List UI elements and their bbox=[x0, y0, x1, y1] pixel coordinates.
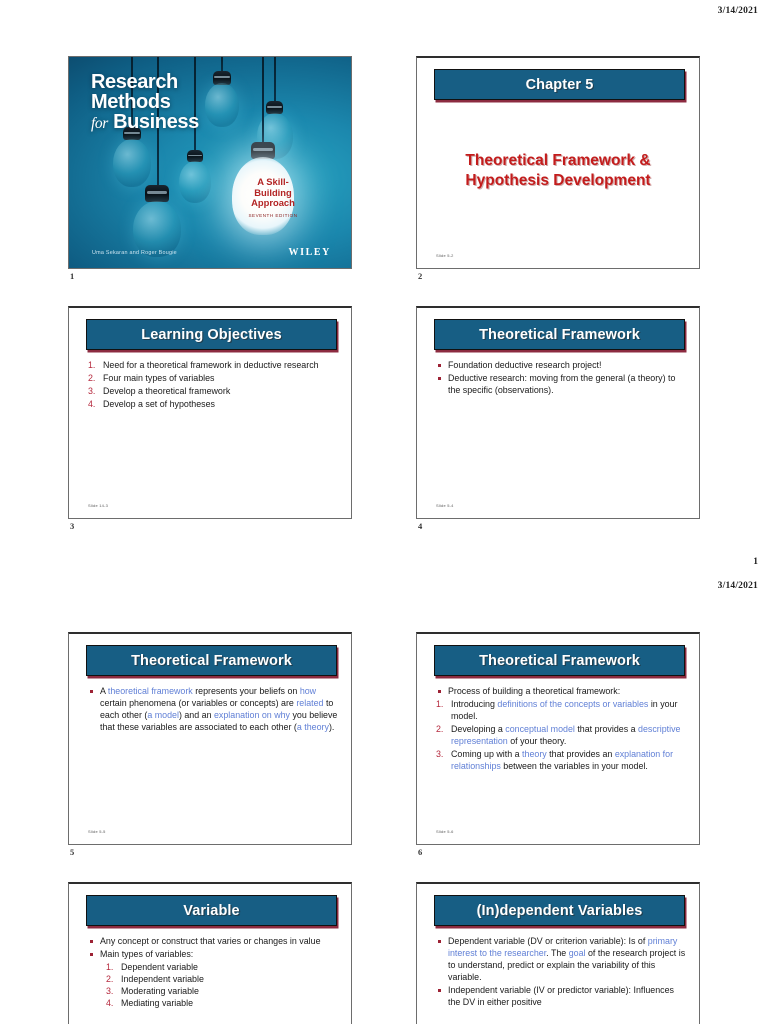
highlighted-term: goal bbox=[569, 948, 586, 958]
page-number: 1 bbox=[753, 557, 758, 567]
highlighted-term: how bbox=[300, 686, 316, 696]
slide-index-1: 1 bbox=[70, 271, 74, 281]
book-title-line3: Business bbox=[113, 111, 199, 133]
slide-body-3: 1.Need for a theoretical framework in de… bbox=[88, 360, 339, 412]
body-text: Develop a theoretical framework bbox=[103, 386, 230, 396]
slide-body-item: Main types of variables: bbox=[88, 949, 339, 961]
body-text: Deductive research: moving from the gene… bbox=[448, 373, 675, 395]
slide-body-item: 3.Develop a theoretical framework bbox=[88, 386, 339, 398]
body-text: that provides an bbox=[547, 749, 615, 759]
slide-body-item: 4.Develop a set of hypotheses bbox=[88, 399, 339, 411]
slide-body-item: Any concept or construct that varies or … bbox=[88, 936, 339, 948]
slide-index-3: 3 bbox=[70, 521, 74, 531]
slide-thumbnail-7[interactable]: Variable Any concept or construct that v… bbox=[68, 882, 352, 1024]
book-publisher: WILEY bbox=[289, 247, 331, 258]
slide-body-item: Dependent variable (DV or criterion vari… bbox=[436, 936, 687, 984]
slide-body-item: 3.Coming up with a theory that provides … bbox=[436, 749, 687, 773]
slide-body-item: Deductive research: moving from the gene… bbox=[436, 373, 687, 397]
body-text: ) and an bbox=[179, 710, 214, 720]
list-marker: 4. bbox=[88, 399, 95, 411]
body-text: Develop a set of hypotheses bbox=[103, 399, 215, 409]
slide-body-item: Independent variable (IV or predictor va… bbox=[436, 985, 687, 1009]
highlighted-term: theory bbox=[522, 749, 547, 759]
slide-title-bar-4: Theoretical Framework bbox=[434, 319, 685, 350]
book-cover-thumbnail[interactable]: Research Methods for Business A Skill-Bu… bbox=[68, 56, 352, 269]
list-marker: 2. bbox=[106, 974, 113, 986]
slide-thumbnail-5[interactable]: Theoretical Framework A theoretical fram… bbox=[68, 632, 352, 845]
slide-title-bar-5: Theoretical Framework bbox=[86, 645, 337, 676]
list-marker: 1. bbox=[88, 360, 95, 372]
list-marker: 2. bbox=[436, 724, 443, 736]
slide-thumbnail-4[interactable]: Theoretical Framework Foundation deducti… bbox=[416, 306, 700, 519]
slide-body-item: 1.Need for a theoretical framework in de… bbox=[88, 360, 339, 372]
slide-body-4: Foundation deductive research project!De… bbox=[436, 360, 687, 398]
slide-body-item: Foundation deductive research project! bbox=[436, 360, 687, 372]
slide-index-2: 2 bbox=[418, 271, 422, 281]
body-text: certain phenomena (or variables or conce… bbox=[100, 698, 296, 708]
slide-body-item: 2.Four main types of variables bbox=[88, 373, 339, 385]
body-text: Moderating variable bbox=[121, 986, 199, 996]
document-date-top: 3/14/2021 bbox=[718, 6, 758, 16]
slide-title-5: Theoretical Framework bbox=[131, 653, 292, 669]
slide-body-item: 2.Developing a conceptual model that pro… bbox=[436, 724, 687, 748]
highlighted-term: definitions of the concepts or variables bbox=[497, 699, 648, 709]
body-text: that provides a bbox=[575, 724, 638, 734]
body-text: A bbox=[100, 686, 108, 696]
slide-thumbnail-2[interactable]: Chapter 5 Theoretical Framework & Hypoth… bbox=[416, 56, 700, 269]
book-edition: Seventh Edition bbox=[241, 213, 305, 218]
list-marker: 4. bbox=[106, 998, 113, 1010]
highlighted-term: a theory bbox=[297, 722, 329, 732]
slide-body-8: Dependent variable (DV or criterion vari… bbox=[436, 936, 687, 1010]
list-marker: 3. bbox=[106, 986, 113, 998]
body-text: Dependent variable (DV or criterion vari… bbox=[448, 936, 648, 946]
list-marker: 1. bbox=[436, 699, 443, 711]
body-text: Dependent variable bbox=[121, 962, 198, 972]
slide-body-item: 3.Moderating variable bbox=[88, 986, 339, 998]
slide-title-bar-8: (In)dependent Variables bbox=[434, 895, 685, 926]
body-text: Any concept or construct that varies or … bbox=[100, 936, 321, 946]
slide-footer-5: Slide 5-5 bbox=[88, 830, 106, 834]
slide-title-bar-7: Variable bbox=[86, 895, 337, 926]
book-authors: Uma Sekaran and Roger Bougie bbox=[92, 250, 177, 256]
slide-title-7: Variable bbox=[183, 903, 239, 919]
slide-title-2: Chapter 5 bbox=[526, 77, 594, 93]
slide-title-4: Theoretical Framework bbox=[479, 327, 640, 343]
body-text: Process of building a theoretical framew… bbox=[448, 686, 620, 696]
body-text: represents your beliefs on bbox=[193, 686, 300, 696]
book-title-line1: Research bbox=[91, 73, 199, 93]
slide-thumbnail-3[interactable]: Learning Objectives 1.Need for a theoret… bbox=[68, 306, 352, 519]
body-text: Four main types of variables bbox=[103, 373, 214, 383]
list-marker: 3. bbox=[436, 749, 443, 761]
slide-body-7: Any concept or construct that varies or … bbox=[88, 936, 339, 1010]
highlighted-term: a model bbox=[147, 710, 179, 720]
slide-footer-3: Slide 14-3 bbox=[88, 504, 108, 508]
slide-index-6: 6 bbox=[418, 847, 422, 857]
body-text: Coming up with a bbox=[451, 749, 522, 759]
list-marker: 1. bbox=[106, 962, 113, 974]
slide-body-item: 1.Introducing definitions of the concept… bbox=[436, 699, 687, 723]
body-text: Introducing bbox=[451, 699, 497, 709]
slide-index-5: 5 bbox=[70, 847, 74, 857]
list-marker: 2. bbox=[88, 373, 95, 385]
slide-title-bar-3: Learning Objectives bbox=[86, 319, 337, 350]
slide-body-item: 4.Mediating variable bbox=[88, 998, 339, 1010]
book-title-for: for bbox=[91, 115, 108, 132]
slide-title-bar-2: Chapter 5 bbox=[434, 69, 685, 100]
slide-body-item: 2.Independent variable bbox=[88, 974, 339, 986]
slide-body-item: 1.Dependent variable bbox=[88, 962, 339, 974]
body-text: of your theory. bbox=[508, 736, 567, 746]
highlighted-term: conceptual model bbox=[505, 724, 575, 734]
slide-body-6: Process of building a theoretical framew… bbox=[436, 686, 687, 773]
body-text: Need for a theoretical framework in dedu… bbox=[103, 360, 319, 370]
highlighted-term: theoretical framework bbox=[108, 686, 193, 696]
slide-thumbnail-8[interactable]: (In)dependent Variables Dependent variab… bbox=[416, 882, 700, 1024]
body-text: Foundation deductive research project! bbox=[448, 360, 601, 370]
slide-footer-2: Slide 5-2 bbox=[436, 254, 454, 258]
handout-page: 3/14/2021 Research Methods bbox=[0, 0, 768, 1024]
slide-title-3: Learning Objectives bbox=[141, 327, 282, 343]
book-subtitle: A Skill-Building Approach bbox=[241, 177, 305, 209]
slide-footer-4: Slide 5-4 bbox=[436, 504, 454, 508]
body-text: ). bbox=[329, 722, 334, 732]
slide-body-item: A theoretical framework represents your … bbox=[88, 686, 339, 734]
chapter-subject-title: Theoretical Framework & Hypothesis Devel… bbox=[429, 151, 687, 192]
book-title: Research Methods for Business bbox=[91, 73, 199, 132]
slide-title-6: Theoretical Framework bbox=[479, 653, 640, 669]
slide-index-4: 4 bbox=[418, 521, 422, 531]
body-text: Developing a bbox=[451, 724, 505, 734]
slide-thumbnail-6[interactable]: Theoretical Framework Process of buildin… bbox=[416, 632, 700, 845]
body-text: . The bbox=[546, 948, 569, 958]
slide-body-item: Process of building a theoretical framew… bbox=[436, 686, 687, 698]
body-text: between the variables in your model. bbox=[501, 761, 648, 771]
body-text: Independent variable bbox=[121, 974, 204, 984]
highlighted-term: related bbox=[296, 698, 323, 708]
body-text: Main types of variables: bbox=[100, 949, 193, 959]
slide-title-8: (In)dependent Variables bbox=[477, 903, 643, 919]
list-marker: 3. bbox=[88, 386, 95, 398]
body-text: Mediating variable bbox=[121, 998, 193, 1008]
highlighted-term: explanation on why bbox=[214, 710, 290, 720]
document-date-middle: 3/14/2021 bbox=[718, 581, 758, 591]
slide-footer-6: Slide 5-6 bbox=[436, 830, 454, 834]
body-text: Independent variable (IV or predictor va… bbox=[448, 985, 674, 1007]
slide-title-bar-6: Theoretical Framework bbox=[434, 645, 685, 676]
slide-body-5: A theoretical framework represents your … bbox=[88, 686, 339, 735]
